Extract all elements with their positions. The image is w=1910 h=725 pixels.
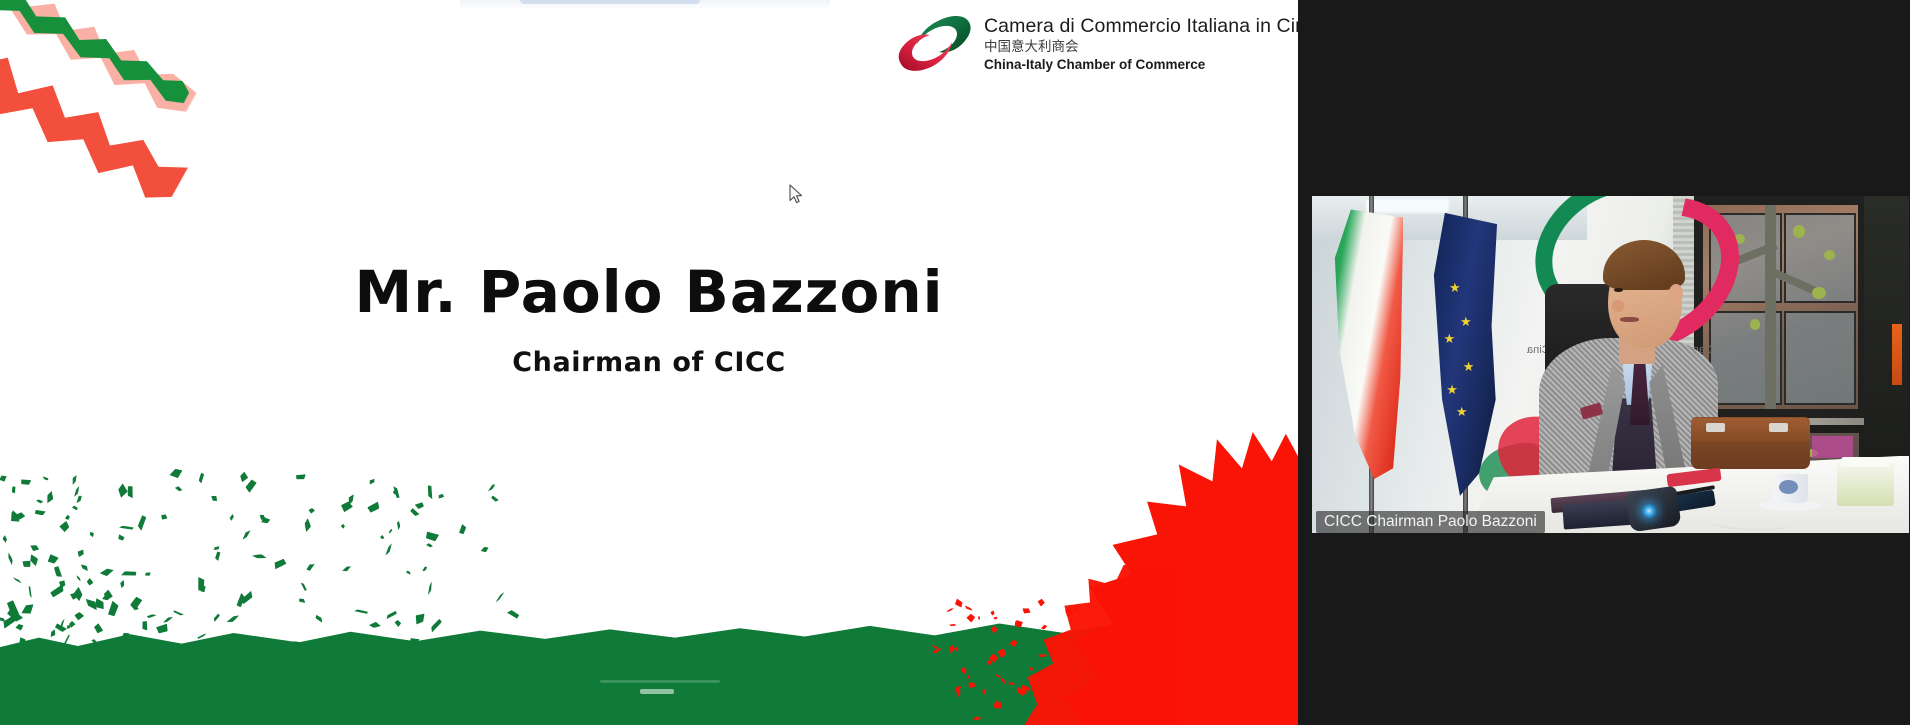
confetti-fleck xyxy=(305,562,316,572)
bag-clasp-left xyxy=(1706,423,1725,432)
ceiling-lamp xyxy=(1366,199,1450,212)
red-fleck xyxy=(1081,702,1086,708)
confetti-fleck xyxy=(413,610,426,625)
confetti-fleck xyxy=(7,552,15,565)
confetti-fleck xyxy=(426,485,433,500)
confetti-fleck xyxy=(368,622,380,629)
red-fleck xyxy=(1064,607,1074,618)
confetti-fleck xyxy=(415,502,424,509)
red-fleck xyxy=(1073,707,1083,717)
confetti-fleck xyxy=(145,572,152,576)
red-fleck xyxy=(1059,709,1062,716)
confetti-fleck xyxy=(74,485,81,497)
confetti-fleck xyxy=(35,510,46,515)
confetti-fleck xyxy=(74,611,85,622)
speaker-video-tile[interactable]: ★ ★ ★ ★ ★ ★ Camera di Commercio Italiana… xyxy=(1312,196,1909,533)
red-fleck xyxy=(1056,692,1065,702)
confetti-fleck xyxy=(117,483,128,498)
person-ear xyxy=(1669,284,1683,302)
red-fleck xyxy=(1069,673,1078,684)
confetti-fleck xyxy=(237,592,246,607)
confetti-fleck xyxy=(388,529,393,534)
confetti-fleck xyxy=(215,551,221,561)
tissue-box-top xyxy=(1841,457,1889,467)
confetti-fleck xyxy=(226,614,240,626)
red-fleck xyxy=(1028,666,1034,672)
confetti-fleck xyxy=(392,485,400,498)
confetti-fleck xyxy=(68,620,76,628)
top-left-flag-brush-decoration xyxy=(0,0,320,210)
confetti-fleck xyxy=(76,575,82,582)
confetti-fleck xyxy=(128,596,142,612)
confetti-fleck xyxy=(16,511,26,521)
confetti-fleck xyxy=(490,496,499,503)
confetti-fleck xyxy=(65,624,71,630)
red-fleck xyxy=(964,605,973,612)
red-fleck xyxy=(949,644,955,654)
confetti-fleck xyxy=(197,633,207,640)
confetti-fleck xyxy=(405,570,411,576)
confetti-fleck xyxy=(71,474,77,485)
confetti-fleck xyxy=(296,473,307,481)
participant-name-label: CICC Chairman Paolo Bazzoni xyxy=(1316,511,1545,533)
confetti-fleck xyxy=(0,615,7,622)
green-confetti-decoration xyxy=(0,467,560,647)
confetti-fleck xyxy=(368,478,376,485)
confetti-fleck xyxy=(211,494,218,502)
confetti-fleck xyxy=(240,471,249,482)
logo-title-english: China-Italy Chamber of Commerce xyxy=(984,57,1298,74)
logo-title-italian: Camera di Commercio Italiana in Cina xyxy=(984,16,1298,38)
confetti-fleck xyxy=(173,611,184,617)
confetti-fleck xyxy=(4,599,20,617)
confetti-fleck xyxy=(242,529,252,541)
confetti-fleck xyxy=(0,614,17,630)
confetti-fleck xyxy=(258,513,265,521)
red-fleck xyxy=(946,608,954,614)
red-fleck xyxy=(1038,653,1047,657)
confetti-fleck xyxy=(47,491,55,504)
confetti-fleck xyxy=(272,557,287,571)
confetti-fleck xyxy=(240,589,255,605)
confetti-fleck xyxy=(159,513,167,521)
confetti-fleck xyxy=(5,607,24,623)
confetti-fleck xyxy=(36,498,44,504)
confetti-fleck xyxy=(80,563,90,572)
red-brush-flecks xyxy=(928,595,1098,725)
confetti-fleck xyxy=(21,601,37,618)
red-fleck xyxy=(1040,624,1048,631)
red-fleck xyxy=(1077,663,1088,674)
confetti-fleck xyxy=(506,609,520,619)
confetti-fleck xyxy=(1,535,7,543)
confetti-fleck xyxy=(58,520,70,532)
confetti-fleck xyxy=(59,618,65,630)
confetti-fleck xyxy=(354,609,368,614)
confetti-fleck xyxy=(119,526,134,530)
confetti-fleck xyxy=(41,476,48,482)
confetti-fleck xyxy=(367,500,382,514)
red-fleck xyxy=(993,617,998,621)
confetti-fleck xyxy=(135,607,139,610)
confetti-fleck xyxy=(7,511,22,525)
person-brow xyxy=(1612,282,1628,284)
confetti-fleck xyxy=(229,513,235,520)
red-fleck xyxy=(1081,707,1090,716)
confetti-fleck xyxy=(480,545,490,554)
confetti-fleck xyxy=(410,508,421,518)
confetti-fleck xyxy=(28,586,32,598)
bottom-toolbar-ghost-line xyxy=(600,680,720,683)
red-fleck xyxy=(960,667,968,676)
confetti-fleck xyxy=(198,472,204,483)
red-fleck xyxy=(1022,608,1032,616)
confetti-fleck xyxy=(93,623,105,635)
confetti-fleck xyxy=(429,618,443,633)
confetti-fleck xyxy=(346,493,354,505)
confetti-fleck xyxy=(120,580,125,589)
confetti-fleck xyxy=(141,620,149,631)
red-fleck xyxy=(1013,619,1024,630)
confetti-fleck xyxy=(341,524,346,530)
red-fleck xyxy=(953,597,964,609)
confetti-fleck xyxy=(339,499,353,513)
red-fleck xyxy=(966,674,970,679)
red-fleck xyxy=(991,626,999,634)
confetti-fleck xyxy=(126,486,134,499)
confetti-fleck xyxy=(100,566,116,578)
confetti-fleck xyxy=(102,589,114,601)
red-fleck xyxy=(997,648,1006,658)
red-fleck xyxy=(949,624,957,627)
confetti-fleck xyxy=(426,532,439,542)
confetti-fleck xyxy=(21,478,32,485)
video-scene: ★ ★ ★ ★ ★ ★ Camera di Commercio Italiana… xyxy=(1312,196,1909,533)
bottom-toolbar-ghost-handle[interactable] xyxy=(640,689,674,694)
red-fleck xyxy=(982,688,988,695)
hidden-toolbar-handle[interactable] xyxy=(520,0,700,4)
red-fleck xyxy=(1067,715,1073,720)
red-fleck xyxy=(972,716,981,721)
logo-title-chinese: 中国意大利商会 xyxy=(984,38,1298,57)
red-fleck xyxy=(1044,713,1054,720)
confetti-fleck xyxy=(52,566,63,579)
red-fleck xyxy=(1093,693,1098,701)
red-fleck xyxy=(968,682,976,689)
confetti-fleck xyxy=(121,570,137,576)
confetti-fleck xyxy=(54,623,67,633)
confetti-fleck xyxy=(29,544,39,552)
confetti-fleck xyxy=(45,552,60,566)
confetti-fleck xyxy=(86,578,95,587)
confetti-fleck xyxy=(494,591,504,603)
confetti-fleck xyxy=(300,581,307,591)
confetti-fleck xyxy=(22,558,32,568)
confetti-fleck xyxy=(426,542,433,548)
cicc-swoosh-logo-icon xyxy=(895,14,973,74)
red-fleck xyxy=(990,610,994,615)
confetti-fleck xyxy=(116,533,125,542)
confetti-fleck xyxy=(72,504,79,510)
confetti-fleck xyxy=(108,600,119,616)
red-fleck xyxy=(1074,605,1081,612)
confetti-fleck xyxy=(15,622,25,632)
confetti-fleck xyxy=(397,521,400,530)
red-fleck xyxy=(966,612,977,623)
red-fleck xyxy=(1083,649,1092,658)
confetti-fleck xyxy=(304,518,311,532)
confetti-fleck xyxy=(175,485,183,492)
red-fleck xyxy=(953,646,959,652)
red-fleck xyxy=(1087,641,1097,650)
confetti-fleck xyxy=(252,553,267,558)
cicc-logo: Camera di Commercio Italiana in Cina 中国意… xyxy=(895,14,1298,74)
red-fleck xyxy=(991,699,1004,711)
bag-clasp-right xyxy=(1769,423,1788,432)
shared-screen-slide[interactable]: Camera di Commercio Italiana in Cina 中国意… xyxy=(0,0,1298,725)
confetti-fleck xyxy=(385,542,393,556)
confetti-fleck xyxy=(57,579,67,588)
cicc-logo-text: Camera di Commercio Italiana in Cina 中国意… xyxy=(984,14,1298,74)
confetti-fleck xyxy=(76,548,86,557)
confetti-fleck xyxy=(146,613,156,618)
confetti-fleck xyxy=(169,466,185,481)
confetti-fleck xyxy=(384,610,397,620)
slide-headline-block: Mr. Paolo Bazzoni Chairman of CICC xyxy=(0,262,1298,378)
confetti-fleck xyxy=(314,614,324,624)
red-fleck xyxy=(999,677,1006,685)
speaker-role: Chairman of CICC xyxy=(0,347,1298,378)
red-fleck xyxy=(978,616,981,620)
confetti-fleck xyxy=(70,593,78,600)
orange-strip xyxy=(1892,324,1902,385)
confetti-fleck xyxy=(88,531,95,538)
confetti-fleck xyxy=(244,479,257,494)
confetti-fleck xyxy=(198,583,207,592)
red-fleck xyxy=(1059,688,1065,694)
confetti-fleck xyxy=(308,507,315,514)
mouse-pointer-icon xyxy=(789,184,805,206)
confetti-fleck xyxy=(50,629,57,638)
confetti-fleck xyxy=(162,615,173,624)
confetti-fleck xyxy=(487,483,496,492)
confetti-fleck xyxy=(91,597,107,612)
confetti-fleck xyxy=(63,514,70,521)
confetti-fleck xyxy=(50,583,67,599)
confetti-fleck xyxy=(437,493,444,500)
red-fleck xyxy=(1038,598,1046,607)
red-fleck xyxy=(985,659,992,666)
confetti-fleck xyxy=(83,596,100,611)
confetti-fleck xyxy=(394,620,402,628)
confetti-fleck xyxy=(392,488,399,495)
confetti-fleck xyxy=(380,535,385,540)
confetti-fleck xyxy=(459,524,467,535)
confetti-fleck xyxy=(342,565,352,574)
confetti-fleck xyxy=(298,597,307,604)
confetti-fleck xyxy=(10,509,18,519)
tissue-box xyxy=(1837,462,1894,506)
red-fleck xyxy=(1008,638,1018,647)
red-fleck xyxy=(1038,696,1048,703)
speaker-name: Mr. Paolo Bazzoni xyxy=(0,262,1298,323)
confetti-fleck xyxy=(75,495,83,505)
red-fleck xyxy=(1008,682,1015,686)
confetti-fleck xyxy=(212,613,220,622)
confetti-fleck xyxy=(13,577,23,584)
confetti-fleck xyxy=(196,576,205,591)
confetti-fleck xyxy=(427,581,432,596)
confetti-fleck xyxy=(261,517,270,524)
red-fleck xyxy=(995,673,1002,678)
confetti-fleck xyxy=(102,595,110,601)
zoom-meeting-window: Camera di Commercio Italiana in Cina 中国意… xyxy=(0,0,1910,725)
confetti-fleck xyxy=(421,566,428,573)
microphone-led-icon xyxy=(1642,504,1656,518)
confetti-fleck xyxy=(213,546,220,551)
confetti-fleck xyxy=(28,552,41,566)
confetti-fleck xyxy=(0,475,7,481)
confetti-fleck xyxy=(156,621,171,635)
confetti-fleck xyxy=(11,486,16,494)
confetti-fleck xyxy=(137,515,147,531)
confetti-fleck xyxy=(72,587,84,603)
